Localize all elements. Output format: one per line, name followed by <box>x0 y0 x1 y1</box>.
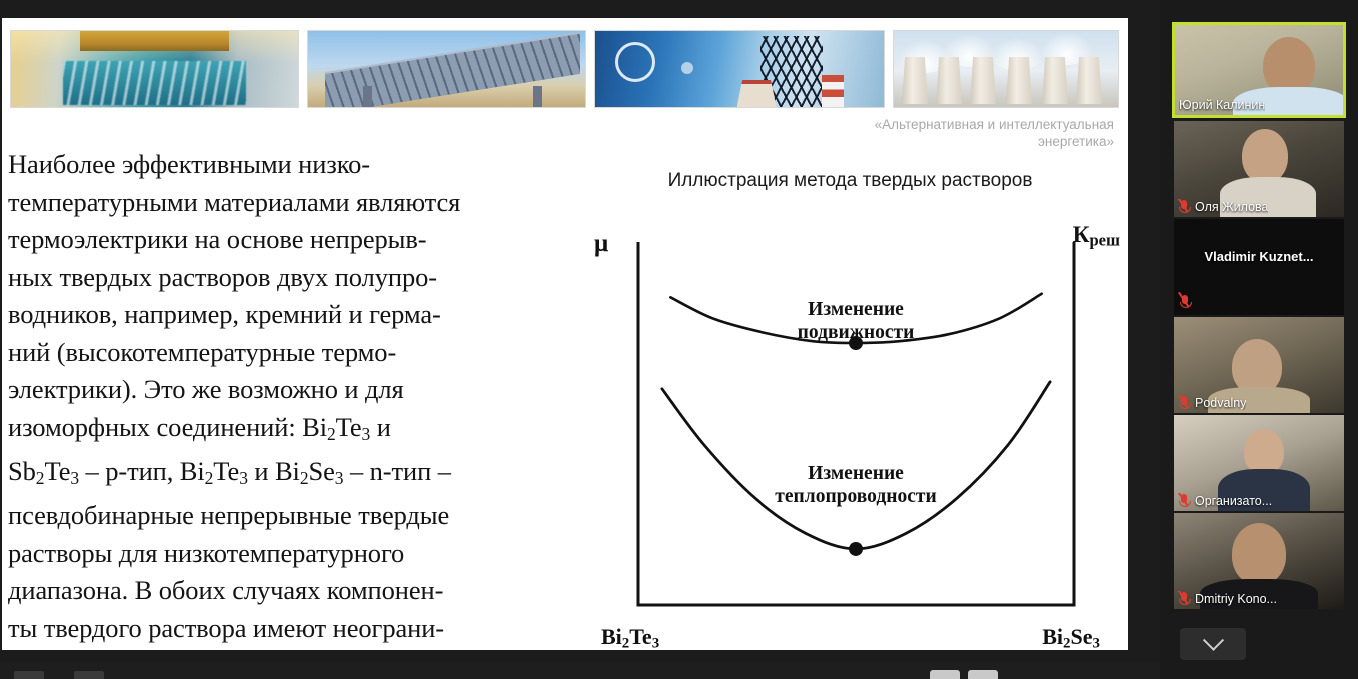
banner-image-strip <box>10 30 1120 108</box>
body-line: ных твердых растворов двух полупро- <box>8 259 570 297</box>
mic-muted-icon <box>1178 591 1191 606</box>
hydroelectric-dam-photo <box>10 30 299 108</box>
participant-tile-no-video[interactable]: Vladimir Kuznet... <box>1174 219 1344 315</box>
participant-tile[interactable]: Оля Жилова <box>1174 121 1344 217</box>
conference-subtitle-line-2: энергетика» <box>734 133 1114 150</box>
x-label-left-a: Bi <box>601 624 622 649</box>
chart-plot-frame: Изменение подвижности Изменение теплопро… <box>635 240 1077 608</box>
formula-subscript: 2 <box>205 468 214 488</box>
cooling-tower-shape <box>737 80 777 107</box>
body-line: ты твердого раствора имеют неограни- <box>8 610 570 648</box>
x-label-right-b: Se <box>1071 624 1093 649</box>
x-label-left-sub-b: 3 <box>652 635 659 650</box>
chevron-down-icon <box>1202 629 1223 650</box>
chimney-stack-shape <box>822 75 844 107</box>
formula-subscript: 2 <box>327 423 336 443</box>
mic-muted-icon <box>1178 493 1191 508</box>
chart-svg <box>635 240 1077 608</box>
formula-text: Te <box>44 456 70 486</box>
slide-body-text: Наиболее эффективными низко- температурн… <box>8 146 570 650</box>
cooling-tower-shape <box>1006 57 1032 104</box>
formula-text: изоморфных соединений: Bi <box>8 412 327 442</box>
avatar <box>1232 523 1286 585</box>
participant-name: Юрий Калинин <box>1179 98 1265 112</box>
body-line: температурными материалами являются <box>8 184 570 222</box>
participant-name: Vladimir Kuznet... <box>1174 249 1344 264</box>
meeting-toolbar-partial[interactable] <box>0 663 1160 679</box>
participants-filmstrip[interactable]: Юрий Калинин Оля Жилова Vladimir Kuznet.… <box>1160 0 1358 679</box>
participant-name-label: Организато... <box>1195 494 1272 508</box>
body-line-formula-2: Sb2Te3 – p-тип, Bi2Te3 и Bi2Se3 – n-тип … <box>8 453 570 497</box>
formula-text: и <box>370 412 391 442</box>
x-label-right-sub-a: 2 <box>1063 635 1070 650</box>
cooling-tower-shape <box>936 57 962 104</box>
mic-muted-icon <box>1178 395 1191 410</box>
participant-name-label: Dmitriy Kono... <box>1195 592 1277 606</box>
x-label-left-b: Te <box>629 624 651 649</box>
body-line: растворы для низкотемпературного <box>8 535 570 573</box>
y-axis-label-left: μ <box>594 230 608 258</box>
y-axis-label-right: Креш <box>1073 222 1120 250</box>
formula-subscript: 3 <box>239 468 248 488</box>
body-line: диапазона. В обоих случаях компонен- <box>8 572 570 610</box>
participant-name: Dmitriy Kono... <box>1178 591 1277 606</box>
toolbar-mic-button[interactable] <box>14 671 44 679</box>
formula-text: Sb <box>8 456 36 486</box>
toolbar-video-button[interactable] <box>74 671 104 679</box>
formula-text: – n-тип – <box>343 456 450 486</box>
mic-muted-icon <box>1179 294 1192 309</box>
x-label-right-sub-b: 3 <box>1093 635 1100 650</box>
x-axis-label-right: Bi2Se3 <box>1042 624 1100 650</box>
body-line: термоэлектрики на основе непрерыв- <box>8 221 570 259</box>
mic-slash <box>1178 395 1188 408</box>
participant-name: Оля Жилова <box>1178 199 1268 214</box>
formula-text: Se <box>308 456 334 486</box>
mic-muted-icon <box>1178 199 1191 214</box>
participant-tile[interactable]: Организато... <box>1174 415 1344 511</box>
mic-slash <box>1178 292 1189 307</box>
body-line: псевдобинарные непрерывные твердые <box>8 497 570 535</box>
formula-text: и Bi <box>248 456 300 486</box>
body-line: водников, например, кремний и герма- <box>8 296 570 334</box>
participant-tile[interactable]: Podvalny <box>1174 317 1344 413</box>
cooling-tower-shape <box>970 57 996 104</box>
mic-slash <box>1178 493 1188 506</box>
x-axis-label-left: Bi2Te3 <box>601 624 659 650</box>
body-line: ченную растворимость друг в друге. <box>8 647 570 650</box>
conference-subtitle: «Альтернативная и интеллектуальная энерг… <box>734 116 1114 150</box>
chart-title: Иллюстрация метода твердых растворов <box>580 170 1120 192</box>
cooling-towers-photo <box>893 30 1119 108</box>
x-label-right-a: Bi <box>1042 624 1063 649</box>
mic-slash <box>1178 199 1188 212</box>
cooling-tower-shape <box>902 57 928 104</box>
participant-name-label: Vladimir Kuznet... <box>1204 249 1313 264</box>
participant-name-label: Podvalny <box>1195 396 1246 410</box>
formula-text: Te <box>336 412 362 442</box>
participant-name: Организато... <box>1178 493 1272 508</box>
formula-subscript: 3 <box>362 423 371 443</box>
body-line: ний (высокотемпературные термо- <box>8 334 570 372</box>
toolbar-share-button[interactable] <box>930 670 960 679</box>
participant-tile[interactable]: Dmitriy Kono... <box>1174 513 1344 609</box>
participant-name-label: Юрий Калинин <box>1179 98 1265 112</box>
formula-text: – p-тип, Bi <box>79 456 205 486</box>
formula-text: Te <box>213 456 239 486</box>
cooling-tower-shape <box>1042 57 1068 104</box>
body-line: Наиболее эффективными низко- <box>8 146 570 184</box>
participant-tile-active-speaker[interactable]: Юрий Калинин <box>1172 22 1346 118</box>
filmstrip-scroll-down-button[interactable] <box>1180 628 1246 660</box>
body-line-formula-1: изоморфных соединений: Bi2Te3 и <box>8 409 570 453</box>
solar-panels-photo <box>307 30 586 108</box>
cooling-tower-shape <box>1076 57 1102 104</box>
body-line: электрики). Это же возможно и для <box>8 371 570 409</box>
conference-subtitle-line-1: «Альтернативная и интеллектуальная <box>734 116 1114 133</box>
solid-solution-chart: μ Креш Изменение под <box>587 208 1122 650</box>
mic-slash <box>1178 591 1188 604</box>
formula-subscript: 3 <box>70 468 79 488</box>
y-axis-label-right-sub: реш <box>1089 230 1120 249</box>
shared-screen-area[interactable]: «Альтернативная и интеллектуальная энерг… <box>0 0 1130 652</box>
toolbar-participants-button[interactable] <box>968 670 998 679</box>
participant-name: Podvalny <box>1178 395 1246 410</box>
smart-grid-photo <box>594 30 885 108</box>
avatar <box>1242 129 1288 183</box>
participant-name-label: Оля Жилова <box>1195 200 1268 214</box>
video-conference-window: «Альтернативная и интеллектуальная энерг… <box>0 0 1358 679</box>
presentation-slide[interactable]: «Альтернативная и интеллектуальная энерг… <box>2 18 1128 650</box>
